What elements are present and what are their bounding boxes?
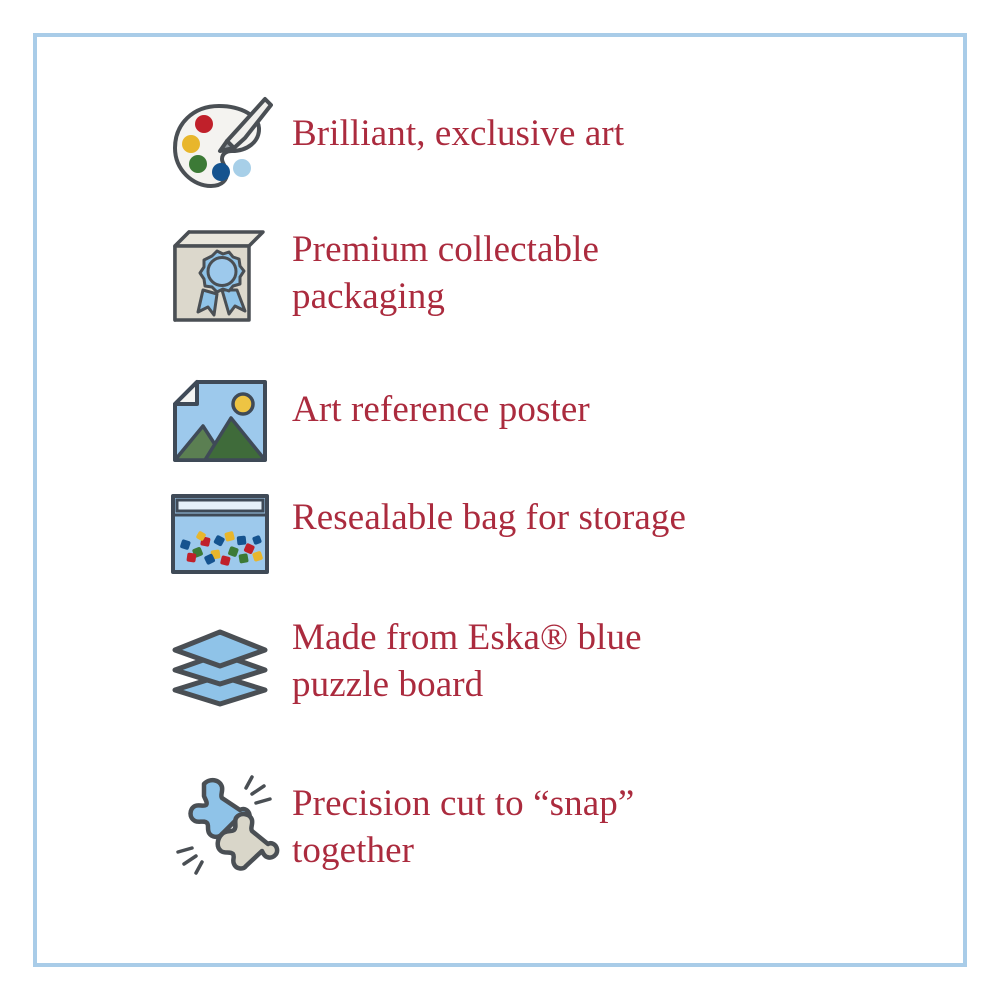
- feature-label: Premium collectable packaging: [280, 220, 860, 320]
- award-box-icon: [160, 220, 280, 326]
- feature-label: Brilliant, exclusive art: [280, 92, 860, 157]
- feature-label: Precision cut to “snap” together: [280, 766, 860, 874]
- feature-item: Resealable bag for storage: [160, 480, 860, 598]
- feature-poster: Brilliant, exclusive art: [0, 0, 1000, 1000]
- snap-puzzle-pieces-icon: [160, 766, 280, 888]
- feature-item: Made from Eska® blue puzzle board: [160, 606, 860, 756]
- stacked-board-layers-icon: [160, 606, 280, 710]
- feature-label: Resealable bag for storage: [280, 480, 860, 541]
- paint-palette-icon: [160, 92, 280, 196]
- feature-item: Precision cut to “snap” together: [160, 766, 860, 906]
- feature-list: Brilliant, exclusive art: [160, 92, 860, 906]
- feature-item: Brilliant, exclusive art: [160, 92, 860, 220]
- feature-item: Premium collectable packaging: [160, 220, 860, 368]
- feature-label: Made from Eska® blue puzzle board: [280, 606, 860, 708]
- feature-label: Art reference poster: [280, 368, 860, 433]
- poster-picture-icon: [160, 368, 280, 466]
- resealable-bag-icon: [160, 480, 280, 578]
- feature-item: Art reference poster: [160, 368, 860, 480]
